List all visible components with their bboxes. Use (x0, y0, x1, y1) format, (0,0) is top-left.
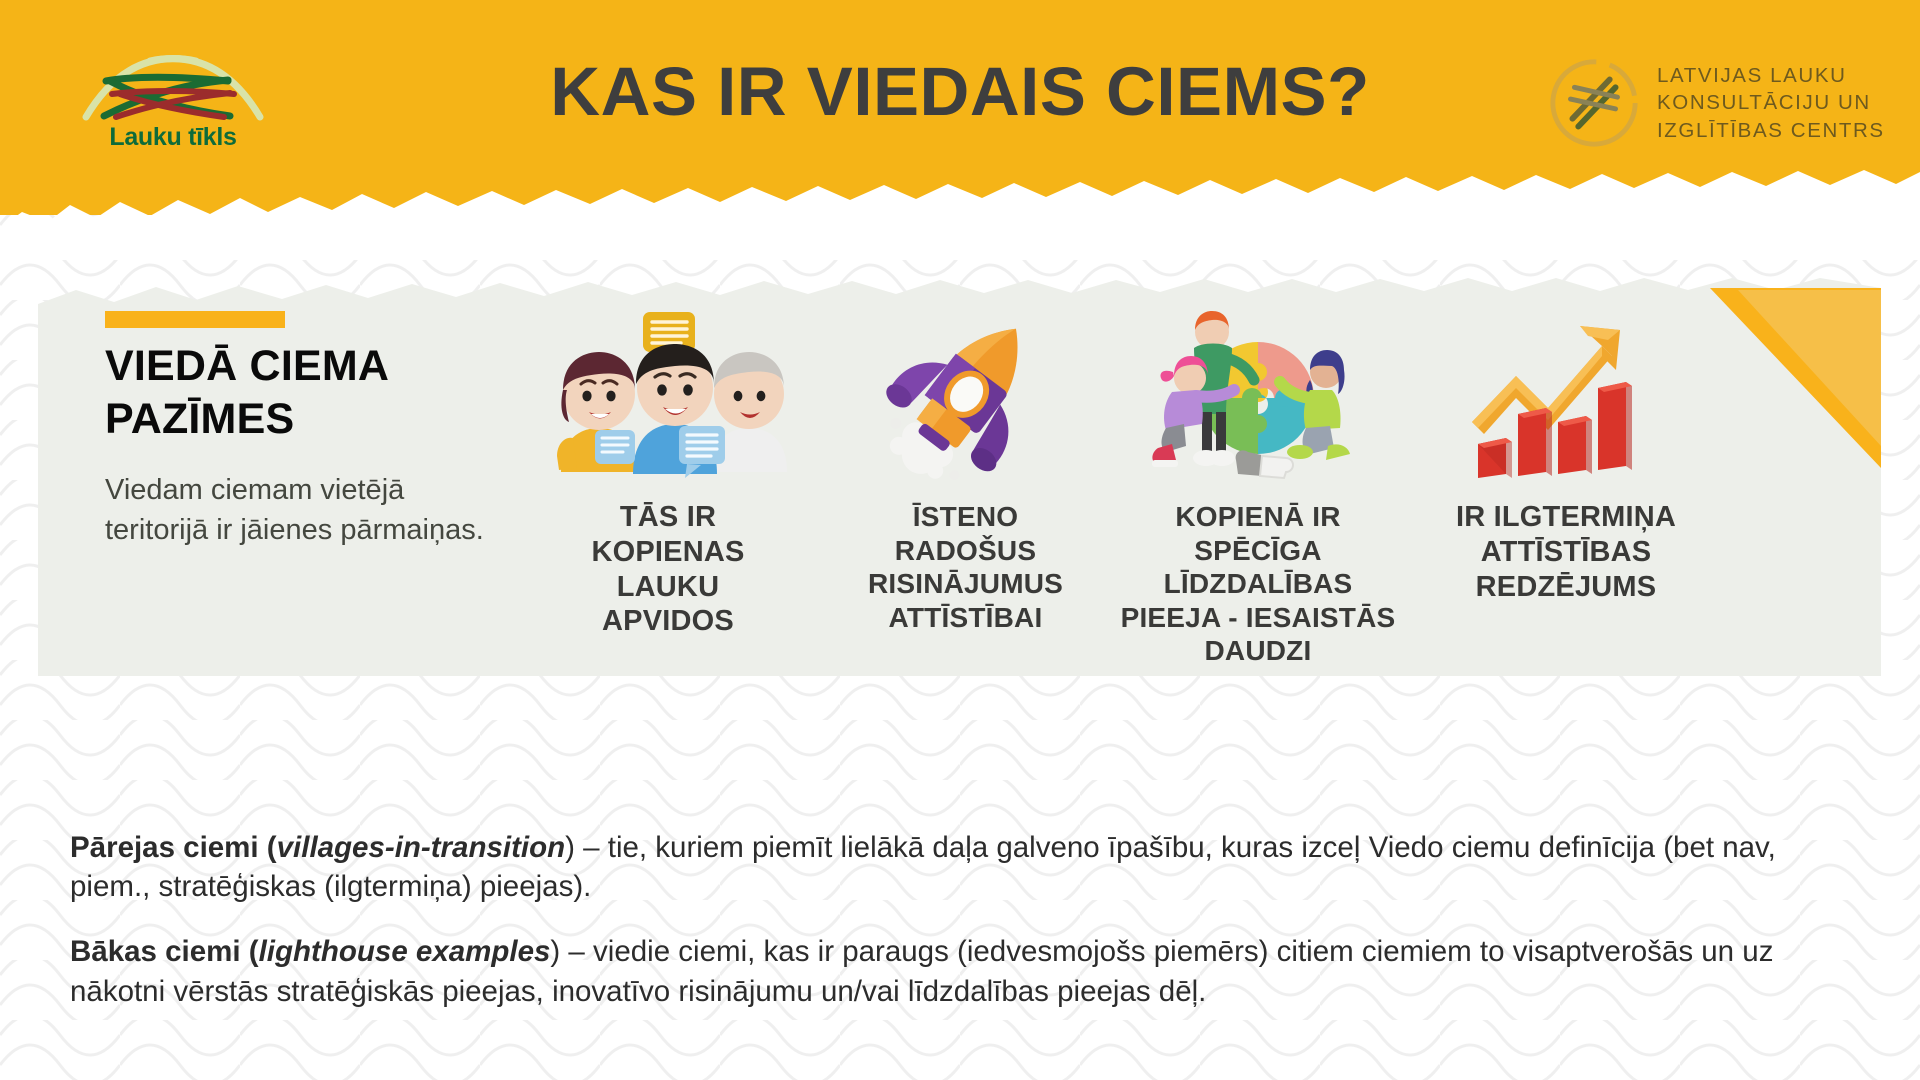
puzzle-teamwork-icon (1150, 304, 1366, 482)
page-header: Lauku tīkls KAS IR VIEDAIS CIEMS? LATVIJ… (0, 0, 1920, 238)
feature-label-2: ĪSTENO RADOŠUS RISINĀJUMUS ATTĪSTĪBAI (868, 500, 1063, 634)
paragraph-2-emphasis: lighthouse examples (259, 935, 551, 968)
panel-body-text: Viedam ciemam vietējā teritorijā ir jāie… (105, 470, 505, 550)
paragraph-2-lead: Bākas ciemi ( (70, 935, 259, 968)
feature-column-1: TĀS IR KOPIENAS LAUKU APVIDOS (518, 304, 818, 639)
features-card: VIEDĀ CIEMA PAZĪMES Viedam ciemam vietēj… (38, 278, 1881, 676)
llkc-logo-mark (1545, 54, 1643, 152)
panel-title: VIEDĀ CIEMA PAZĪMES (105, 340, 525, 446)
paragraph-1-emphasis: villages-in-transition (277, 831, 566, 864)
llkc-logo: LATVIJAS LAUKU KONSULTĀCIJU UN IZGLĪTĪBA… (1545, 48, 1905, 158)
llkc-logo-line-2: KONSULTĀCIJU UN (1657, 89, 1885, 116)
feature-label-1: TĀS IR KOPIENAS LAUKU APVIDOS (591, 500, 744, 639)
bottom-text-block: Pārejas ciemi (villages-in-transition) –… (70, 828, 1860, 1037)
paragraph-1-lead: Pārejas ciemi ( (70, 831, 277, 864)
growth-chart-icon (1462, 304, 1670, 482)
feature-column-2: ĪSTENO RADOŠUS RISINĀJUMUS ATTĪSTĪBAI (828, 304, 1103, 634)
feature-label-3: KOPIENĀ IR SPĒCĪGA LĪDZDALĪBAS PIEEJA - … (1121, 500, 1396, 668)
feature-label-4: IR ILGTERMIŅA ATTĪSTĪBAS REDZĒJUMS (1456, 500, 1676, 604)
paragraph-transition-villages: Pārejas ciemi (villages-in-transition) –… (70, 828, 1860, 906)
header-torn-edge (0, 150, 1920, 260)
llkc-logo-text: LATVIJAS LAUKU KONSULTĀCIJU UN IZGLĪTĪBA… (1657, 62, 1885, 144)
feature-column-3: KOPIENĀ IR SPĒCĪGA LĪDZDALĪBAS PIEEJA - … (1098, 304, 1418, 668)
paragraph-lighthouse-villages: Bākas ciemi (lighthouse examples) – vied… (70, 932, 1860, 1010)
rocket-icon (871, 304, 1061, 482)
feature-column-4: IR ILGTERMIŅA ATTĪSTĪBAS REDZĒJUMS (1416, 304, 1716, 604)
llkc-logo-line-1: LATVIJAS LAUKU (1657, 62, 1885, 89)
accent-bar (105, 311, 285, 328)
people-talking-icon (547, 304, 789, 482)
llkc-logo-line-3: IZGLĪTĪBAS CENTRS (1657, 117, 1885, 144)
